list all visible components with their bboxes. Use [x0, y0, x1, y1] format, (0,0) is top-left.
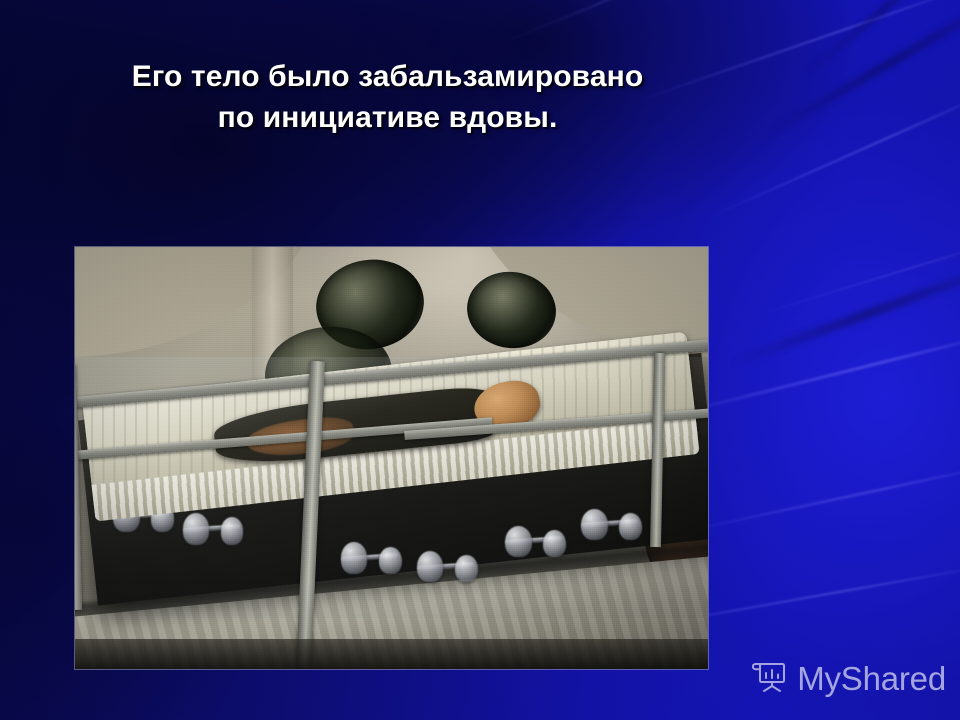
page-title: Его тело было забальзамировано по инициа… — [0, 56, 775, 138]
slide-photo — [75, 247, 708, 669]
background-shadow-streak — [766, 0, 960, 136]
background-light-streak — [749, 233, 960, 318]
background-light-streak — [672, 461, 960, 534]
photo-vignette-overlay — [75, 247, 708, 669]
presentation-chart-icon — [752, 659, 788, 698]
slide-canvas: Его тело было забальзамировано по инициа… — [0, 0, 960, 720]
myshared-watermark-label: MyShared — [797, 662, 946, 695]
myshared-watermark[interactable]: MyShared — [752, 659, 946, 698]
background-light-streak — [499, 0, 960, 45]
